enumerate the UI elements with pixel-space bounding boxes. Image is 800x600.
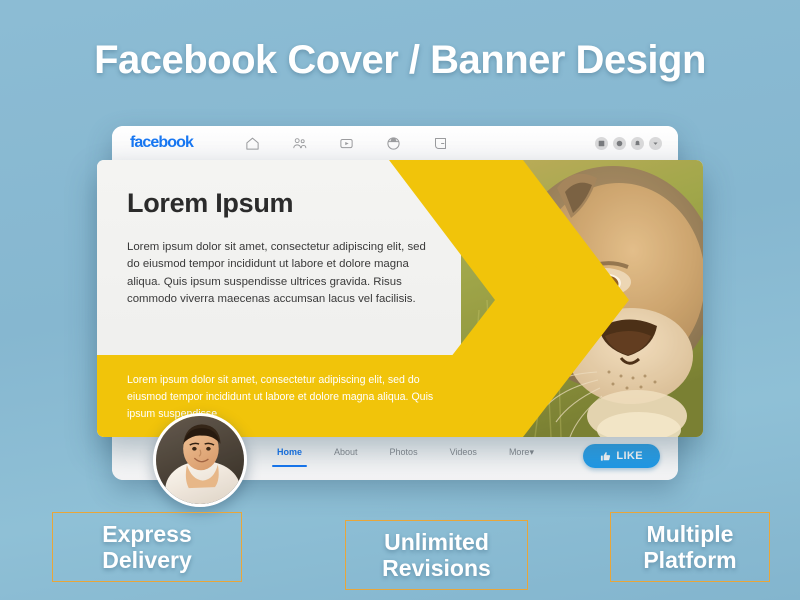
badge-line2: Platform bbox=[643, 547, 736, 573]
messenger-icon[interactable] bbox=[613, 137, 626, 150]
like-button-label: LIKE bbox=[616, 450, 643, 462]
home-icon[interactable] bbox=[245, 136, 260, 151]
watch-icon[interactable] bbox=[339, 136, 354, 151]
friends-icon[interactable] bbox=[292, 136, 307, 151]
badge-line2: Delivery bbox=[102, 547, 192, 573]
profile-tab-photos[interactable]: Photos bbox=[385, 444, 423, 467]
facebook-top-navbar: facebook bbox=[112, 126, 678, 160]
thumbs-up-icon bbox=[600, 451, 611, 462]
menu-grid-icon[interactable] bbox=[595, 137, 608, 150]
profile-tab-home[interactable]: Home bbox=[272, 444, 307, 467]
lion-photo bbox=[461, 160, 703, 437]
badge-line1: Unlimited bbox=[384, 529, 489, 555]
account-chevron-down-icon[interactable] bbox=[649, 137, 662, 150]
profile-tabs: Home About Photos Videos More▾ bbox=[272, 444, 539, 467]
facebook-nav-icons bbox=[245, 136, 448, 151]
notifications-bell-icon[interactable] bbox=[631, 137, 644, 150]
profile-tab-about[interactable]: About bbox=[329, 444, 363, 467]
profile-tab-videos[interactable]: Videos bbox=[445, 444, 482, 467]
badge-line1: Multiple bbox=[647, 521, 734, 547]
cover-band-text: Lorem ipsum dolor sit amet, consectetur … bbox=[127, 372, 445, 423]
badge-unlimited-revisions: UnlimitedRevisions bbox=[345, 520, 528, 590]
profile-tab-more[interactable]: More▾ bbox=[504, 444, 539, 467]
feature-badges: ExpressDelivery UnlimitedRevisions Multi… bbox=[0, 504, 800, 590]
facebook-account-actions bbox=[595, 126, 662, 160]
cover-heading: Lorem Ipsum bbox=[127, 188, 293, 219]
cover-banner-card: Lorem Ipsum Lorem ipsum dolor sit amet, … bbox=[97, 160, 703, 437]
badge-line1: Express bbox=[102, 521, 192, 547]
badge-express-delivery: ExpressDelivery bbox=[52, 512, 242, 582]
gaming-icon[interactable] bbox=[433, 136, 448, 151]
marketplace-icon[interactable] bbox=[386, 136, 401, 151]
facebook-logo[interactable]: facebook bbox=[130, 134, 193, 152]
badge-line2: Revisions bbox=[382, 555, 491, 581]
cover-body-text: Lorem ipsum dolor sit amet, consectetur … bbox=[127, 239, 429, 308]
profile-avatar[interactable] bbox=[153, 413, 247, 507]
page-title: Facebook Cover / Banner Design bbox=[0, 38, 800, 83]
badge-multiple-platform: MultiplePlatform bbox=[610, 512, 770, 582]
like-button[interactable]: LIKE bbox=[583, 444, 660, 468]
